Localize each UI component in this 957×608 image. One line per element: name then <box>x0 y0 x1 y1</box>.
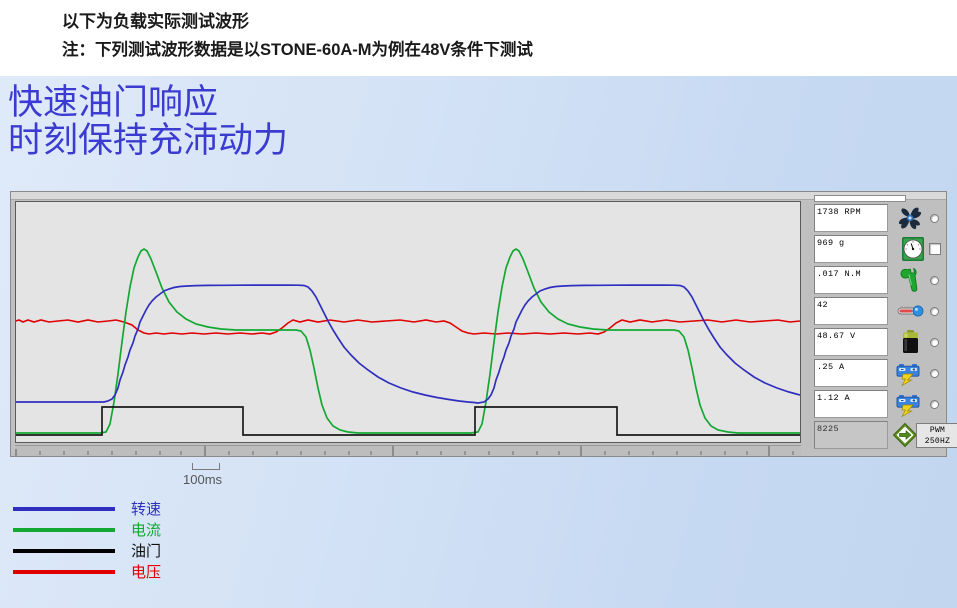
legend-swatch-current <box>13 528 115 532</box>
car-battery-bolt-icon <box>894 360 926 386</box>
oscilloscope-window: 1738 RPM <box>10 191 947 457</box>
page-title-line-1: 快速油门响应 <box>8 84 288 122</box>
rpm-radio[interactable] <box>930 214 939 223</box>
pwm-button-line-1: PWM <box>917 425 957 436</box>
thermometer-icon <box>894 298 926 324</box>
time-ruler <box>15 445 801 456</box>
scale-bracket-icon <box>192 463 220 470</box>
slide-root: 以下为负载实际测试波形 注：下列测试波形数据是以STONE-60A-M为例在48… <box>0 0 957 608</box>
legend-swatch-rpm <box>13 507 115 511</box>
readout-row-rpm: 1738 RPM <box>806 204 944 234</box>
readout-row-torque: .017 N.M <box>806 266 944 296</box>
readout-partial-top <box>814 195 906 202</box>
readout-row-thrust: 969 g <box>806 235 944 265</box>
voltage-radio[interactable] <box>930 338 939 347</box>
pwm-frequency-button[interactable]: PWM 250HZ <box>916 423 957 448</box>
rpm-value[interactable]: 1738 RPM <box>814 204 888 232</box>
gauge-icon <box>894 236 926 262</box>
pwm-button-line-2: 250HZ <box>917 436 957 447</box>
legend-label-voltage: 电压 <box>131 561 161 582</box>
readout-row-temperature: 42 <box>806 297 944 327</box>
scope-title-bar <box>11 192 946 200</box>
header-line-2: 注：下列测试波形数据是以STONE-60A-M为例在48V条件下测试 <box>62 36 533 60</box>
pwm-value: 8225 <box>814 421 888 449</box>
time-ruler-svg <box>15 446 801 456</box>
temperature-value[interactable]: 42 <box>814 297 888 325</box>
torque-radio[interactable] <box>930 276 939 285</box>
torque-value[interactable]: .017 N.M <box>814 266 888 294</box>
header-block: 以下为负载实际测试波形 注：下列测试波形数据是以STONE-60A-M为例在48… <box>0 0 957 76</box>
legend-item-throttle: 油门 <box>13 542 333 563</box>
battery-icon <box>894 329 926 355</box>
legend: 转速 电流 油门 电压 <box>13 500 333 584</box>
readout-row-pwm: 8225 PWM 250HZ <box>806 421 944 451</box>
legend-item-voltage: 电压 <box>13 563 333 584</box>
wrench-icon <box>894 267 926 293</box>
legend-label-throttle: 油门 <box>131 540 161 561</box>
current-b-value[interactable]: 1.12 A <box>814 390 888 418</box>
thrust-value[interactable]: 969 g <box>814 235 888 263</box>
fan-icon <box>894 205 926 231</box>
readout-row-current-a: .25 A <box>806 359 944 389</box>
header-line-1: 以下为负载实际测试波形 <box>62 7 249 32</box>
voltage-value[interactable]: 48.67 V <box>814 328 888 356</box>
thrust-checkbox[interactable] <box>929 243 941 255</box>
legend-item-rpm: 转速 <box>13 500 333 521</box>
scale-label: 100ms <box>183 472 222 487</box>
readout-row-voltage: 48.67 V <box>806 328 944 358</box>
legend-label-current: 电流 <box>131 519 161 540</box>
legend-swatch-voltage <box>13 570 115 574</box>
current-a-value[interactable]: .25 A <box>814 359 888 387</box>
temperature-radio[interactable] <box>930 307 939 316</box>
page-title-line-2: 时刻保持充沛动力 <box>8 122 288 160</box>
legend-swatch-throttle <box>13 549 115 553</box>
car-battery-bolt-icon <box>894 391 926 417</box>
current-a-radio[interactable] <box>930 369 939 378</box>
legend-label-rpm: 转速 <box>131 498 161 519</box>
page-title: 快速油门响应 时刻保持充沛动力 <box>8 84 288 160</box>
current-b-radio[interactable] <box>930 400 939 409</box>
telemetry-panel: 1738 RPM <box>806 201 944 448</box>
legend-item-current: 电流 <box>13 521 333 542</box>
waveform-plot <box>15 201 801 443</box>
waveform-svg <box>16 202 800 442</box>
readout-row-current-b: 1.12 A <box>806 390 944 420</box>
